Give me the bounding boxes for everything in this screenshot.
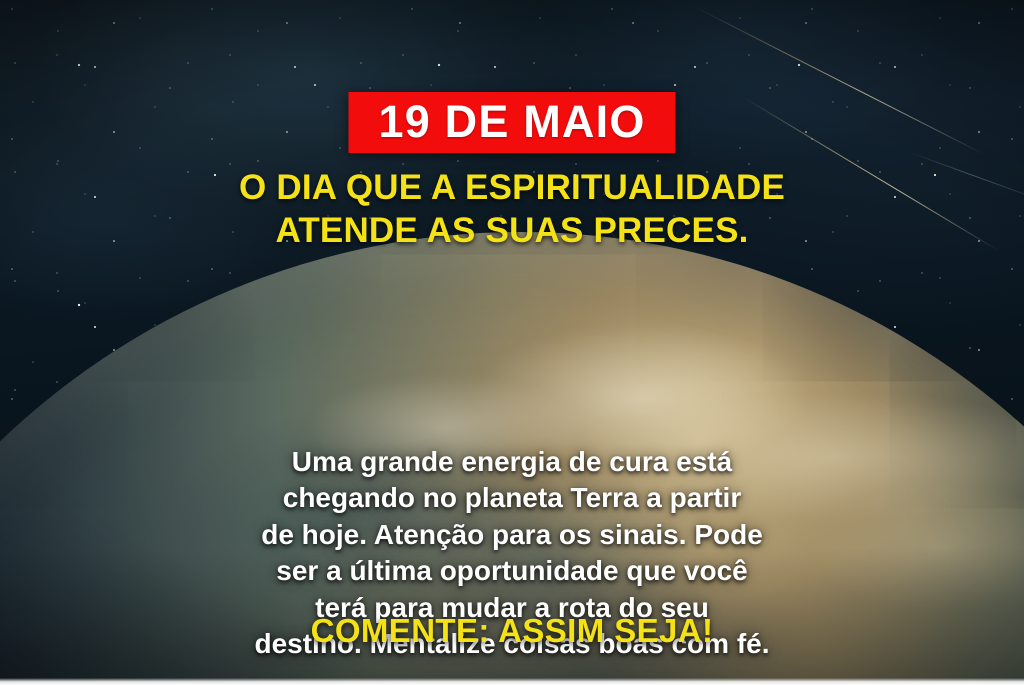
body-line-4: ser a última oportunidade que você [36, 553, 988, 589]
call-to-action-text: COMENTE: ASSIM SEJA! [0, 614, 1024, 647]
bottom-edge-strip [0, 678, 1024, 685]
date-banner-text: 19 DE MAIO [378, 99, 645, 144]
body-line-2: chegando no planeta Terra a partir [36, 480, 988, 516]
date-banner: 19 DE MAIO [348, 92, 675, 153]
body-line-1: Uma grande energia de cura está [36, 444, 988, 480]
poster-content: 19 DE MAIO O DIA QUE A ESPIRITUALIDADE A… [0, 0, 1024, 685]
poster-canvas: 19 DE MAIO O DIA QUE A ESPIRITUALIDADE A… [0, 0, 1024, 685]
body-line-3: de hoje. Atenção para os sinais. Pode [36, 517, 988, 553]
headline: O DIA QUE A ESPIRITUALIDADE ATENDE AS SU… [0, 166, 1024, 253]
headline-line-2: ATENDE AS SUAS PRECES. [40, 209, 984, 252]
headline-line-1: O DIA QUE A ESPIRITUALIDADE [40, 166, 984, 209]
